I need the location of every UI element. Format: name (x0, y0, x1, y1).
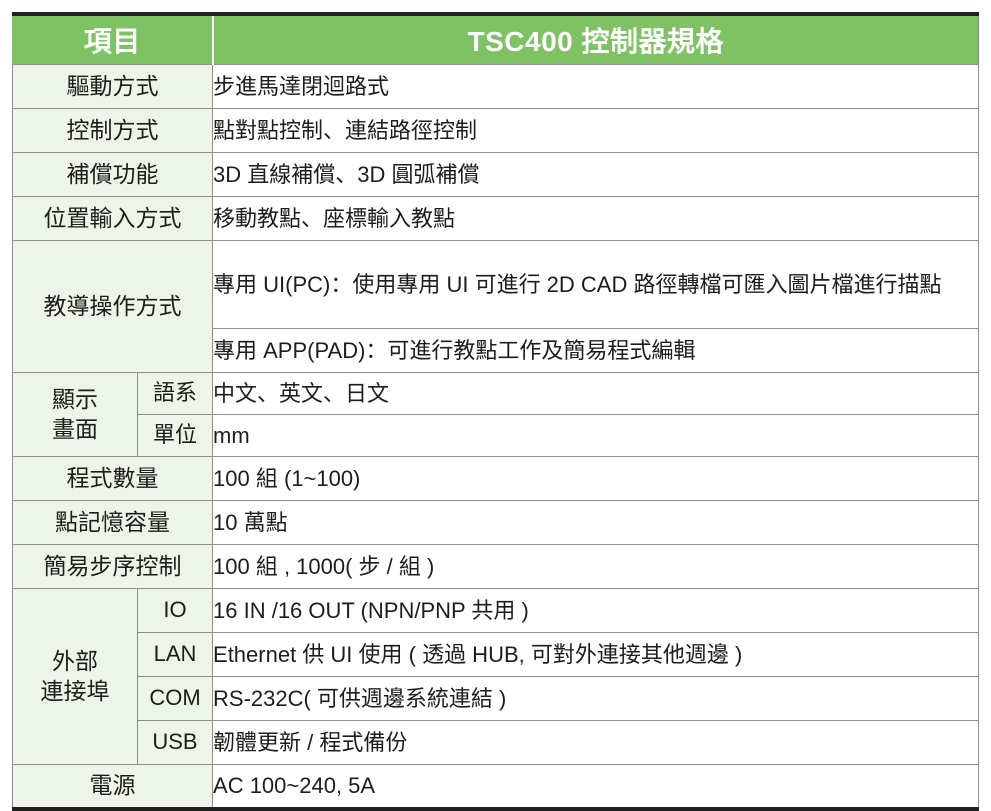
table-row: 顯示 畫面 語系 中文、英文、日文 (13, 373, 979, 415)
header-row: 項目 TSC400 控制器規格 (13, 14, 979, 65)
row-value-teaching-ui: 專用 UI(PC)：使用專用 UI 可進行 2D CAD 路徑轉檔可匯入圖片檔進… (213, 241, 979, 329)
table-row: 點記憶容量 10 萬點 (13, 501, 979, 545)
row-value: 100 組 (1~100) (213, 457, 979, 501)
table-row: 驅動方式 步進馬達閉迴路式 (13, 65, 979, 109)
row-value: 10 萬點 (213, 501, 979, 545)
table-row: LAN Ethernet 供 UI 使用 ( 透過 HUB, 可對外連接其他週邊… (13, 633, 979, 677)
table-row: 單位 mm (13, 415, 979, 457)
row-sublabel-io: IO (138, 589, 213, 633)
row-value-lan: Ethernet 供 UI 使用 ( 透過 HUB, 可對外連接其他週邊 ) (213, 633, 979, 677)
table-row: 程式數量 100 組 (1~100) (13, 457, 979, 501)
table-row: 補償功能 3D 直線補償、3D 圓弧補償 (13, 153, 979, 197)
row-value-usb: 韌體更新 / 程式備份 (213, 721, 979, 765)
header-item-column: 項目 (13, 14, 213, 65)
row-value: 步進馬達閉迴路式 (213, 65, 979, 109)
row-value-teaching-app: 專用 APP(PAD)：可進行教點工作及簡易程式編輯 (213, 329, 979, 373)
row-label: 點記憶容量 (13, 501, 213, 545)
table-header: 項目 TSC400 控制器規格 (13, 14, 979, 65)
row-label-teaching: 教導操作方式 (13, 241, 213, 373)
table-row: 位置輸入方式 移動教點、座標輸入教點 (13, 197, 979, 241)
row-label-power: 電源 (13, 765, 213, 809)
spec-table-container: 項目 TSC400 控制器規格 驅動方式 步進馬達閉迴路式 控制方式 點對點控制… (12, 12, 978, 811)
row-label: 控制方式 (13, 109, 213, 153)
row-value: 3D 直線補償、3D 圓弧補償 (213, 153, 979, 197)
row-sublabel-language: 語系 (138, 373, 213, 415)
row-value: 點對點控制、連結路徑控制 (213, 109, 979, 153)
table-row: 外部 連接埠 IO 16 IN /16 OUT (NPN/PNP 共用 ) (13, 589, 979, 633)
table-row: 控制方式 點對點控制、連結路徑控制 (13, 109, 979, 153)
row-value-language: 中文、英文、日文 (213, 373, 979, 415)
row-value: 100 組 , 1000( 步 / 組 ) (213, 545, 979, 589)
row-label-external-ports: 外部 連接埠 (13, 589, 138, 765)
table-row: 簡易步序控制 100 組 , 1000( 步 / 組 ) (13, 545, 979, 589)
row-label: 程式數量 (13, 457, 213, 501)
row-value-unit: mm (213, 415, 979, 457)
row-sublabel-unit: 單位 (138, 415, 213, 457)
row-label: 驅動方式 (13, 65, 213, 109)
row-label: 位置輸入方式 (13, 197, 213, 241)
row-label-display: 顯示 畫面 (13, 373, 138, 457)
header-spec-column: TSC400 控制器規格 (213, 14, 979, 65)
row-value-io: 16 IN /16 OUT (NPN/PNP 共用 ) (213, 589, 979, 633)
row-sublabel-usb: USB (138, 721, 213, 765)
row-label: 補償功能 (13, 153, 213, 197)
row-sublabel-com: COM (138, 677, 213, 721)
table-row: USB 韌體更新 / 程式備份 (13, 721, 979, 765)
row-value: 移動教點、座標輸入教點 (213, 197, 979, 241)
table-body: 驅動方式 步進馬達閉迴路式 控制方式 點對點控制、連結路徑控制 補償功能 3D … (13, 65, 979, 809)
table-row: 電源 AC 100~240, 5A (13, 765, 979, 809)
row-value-power: AC 100~240, 5A (213, 765, 979, 809)
row-value-com: RS-232C( 可供週邊系統連結 ) (213, 677, 979, 721)
row-label: 簡易步序控制 (13, 545, 213, 589)
table-row: 教導操作方式 專用 UI(PC)：使用專用 UI 可進行 2D CAD 路徑轉檔… (13, 241, 979, 329)
row-sublabel-lan: LAN (138, 633, 213, 677)
table-row: COM RS-232C( 可供週邊系統連結 ) (13, 677, 979, 721)
controller-spec-table: 項目 TSC400 控制器規格 驅動方式 步進馬達閉迴路式 控制方式 點對點控制… (12, 12, 979, 811)
